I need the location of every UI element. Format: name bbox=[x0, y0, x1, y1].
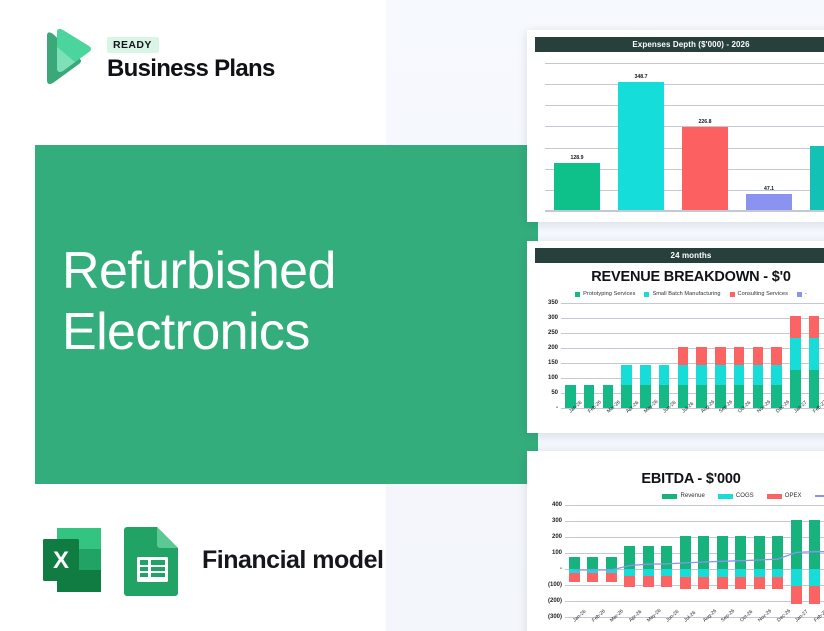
y-axis-tick-label: - bbox=[560, 566, 562, 572]
formats-row: X Financial model bbox=[35, 523, 383, 597]
brand-wordmark: READY Business Plans bbox=[107, 35, 275, 81]
ready-badge: READY bbox=[107, 37, 159, 53]
y-axis-tick-label: (300) bbox=[548, 614, 562, 620]
gridline bbox=[561, 393, 824, 394]
stacked-bar-segment bbox=[809, 370, 819, 408]
chart-ebitda-plot: 400300200100-(100)(200)(300)Jan-26Feb-26… bbox=[565, 505, 824, 617]
gridline bbox=[561, 333, 824, 334]
bar-value-label: 226.8 bbox=[699, 119, 712, 125]
chart-ebitda-title: EBITDA - $'000 bbox=[535, 471, 824, 487]
stacked-bar-segment bbox=[809, 316, 819, 338]
gridline bbox=[561, 348, 824, 349]
page-title: Refurbished Electronics bbox=[62, 241, 336, 363]
bar bbox=[554, 163, 600, 211]
hero-green-panel: Refurbished Electronics bbox=[35, 145, 538, 484]
y-axis-tick-label: 200 bbox=[552, 534, 562, 540]
legend-swatch-icon bbox=[575, 292, 580, 297]
gridline bbox=[561, 303, 824, 304]
svg-text:X: X bbox=[53, 547, 69, 574]
axis-line bbox=[545, 210, 824, 211]
legend-swatch-icon bbox=[815, 495, 824, 497]
stacked-bar-segment bbox=[790, 316, 800, 338]
stacked-bar-segment bbox=[696, 347, 706, 365]
legend-label: Prototyping Services bbox=[583, 291, 635, 297]
stacked-bar-segment bbox=[696, 365, 706, 386]
y-axis-tick-label: - bbox=[556, 405, 558, 411]
legend-item: COGS bbox=[718, 493, 754, 499]
legend-item: Small Batch Manufacturing bbox=[644, 291, 720, 297]
stacked-bar-segment bbox=[753, 347, 763, 365]
stacked-bar-segment bbox=[715, 365, 725, 386]
y-axis-tick-label: (200) bbox=[548, 598, 562, 604]
stacked-bar-segment bbox=[715, 347, 725, 365]
legend-label: OPEX bbox=[785, 493, 802, 499]
legend-swatch-icon bbox=[644, 292, 649, 297]
gridline bbox=[545, 211, 824, 212]
y-axis-tick-label: 50 bbox=[551, 390, 558, 396]
bar bbox=[618, 82, 664, 211]
legend-item: - bbox=[797, 291, 807, 297]
stacked-bar-segment bbox=[771, 365, 781, 386]
microsoft-excel-icon: X bbox=[35, 523, 109, 597]
legend-item: Revenue bbox=[662, 493, 704, 499]
chart-revenue-plot: 35030025020015010050-Jan-26Feb-26Mar-26A… bbox=[561, 303, 824, 408]
legend-label: COGS bbox=[736, 493, 754, 499]
chart-ebitda-legend: RevenueCOGSOPEX0 bbox=[535, 493, 824, 499]
gridline bbox=[545, 84, 824, 85]
legend-item: Consulting Services bbox=[730, 291, 788, 297]
gridline bbox=[561, 378, 824, 379]
y-axis-tick-label: 350 bbox=[548, 300, 558, 306]
legend-label: Small Batch Manufacturing bbox=[652, 291, 720, 297]
legend-label: - bbox=[805, 291, 807, 297]
stacked-bar-segment bbox=[640, 365, 650, 386]
legend-swatch-icon bbox=[718, 494, 733, 499]
play-triangle-logo-icon bbox=[33, 28, 95, 88]
stacked-bar-segment bbox=[659, 365, 669, 386]
chart-revenue-legend: Prototyping ServicesSmall Batch Manufact… bbox=[535, 291, 824, 297]
y-axis-tick-label: 300 bbox=[552, 518, 562, 524]
stacked-bar-segment bbox=[734, 365, 744, 386]
stacked-bar-segment bbox=[790, 338, 800, 370]
y-axis-tick-label: 150 bbox=[548, 360, 558, 366]
bar-value-label: 128.9 bbox=[571, 155, 584, 161]
chart-revenue-title: REVENUE BREAKDOWN - $'0 bbox=[535, 269, 824, 285]
stacked-bar-segment bbox=[790, 370, 800, 408]
brand-logo-block[interactable]: READY Business Plans bbox=[33, 28, 275, 88]
stacked-bar-segment bbox=[734, 347, 744, 365]
y-axis-tick-label: 100 bbox=[552, 550, 562, 556]
chart-expenses-plot: 128.9348.7226.847.1176.5 bbox=[545, 63, 824, 211]
legend-item: 0 bbox=[815, 493, 824, 499]
y-axis-tick-label: 400 bbox=[552, 502, 562, 508]
stacked-bar-segment bbox=[621, 365, 631, 386]
bar-value-label: 47.1 bbox=[764, 186, 774, 192]
gridline bbox=[561, 363, 824, 364]
legend-swatch-icon bbox=[662, 494, 677, 499]
bar bbox=[682, 127, 728, 211]
legend-item: OPEX bbox=[767, 493, 802, 499]
y-axis-tick-label: 250 bbox=[548, 330, 558, 336]
stacked-bar-segment bbox=[678, 365, 688, 386]
chart-card-revenue[interactable]: 24 months REVENUE BREAKDOWN - $'0 Protot… bbox=[527, 241, 824, 433]
y-axis-tick-label: (100) bbox=[548, 582, 562, 588]
stacked-bar-segment bbox=[678, 347, 688, 365]
stacked-bar-segment bbox=[809, 338, 819, 370]
google-sheets-icon bbox=[121, 524, 184, 596]
zero-reference-line-series bbox=[565, 505, 824, 617]
stacked-bar-segment bbox=[771, 347, 781, 365]
legend-swatch-icon bbox=[767, 494, 782, 499]
brand-name: Business Plans bbox=[107, 56, 275, 81]
gridline bbox=[545, 105, 824, 106]
gridline bbox=[561, 318, 824, 319]
y-axis-tick-label: 100 bbox=[548, 375, 558, 381]
legend-label: Consulting Services bbox=[738, 291, 788, 297]
chart-card-ebitda[interactable]: EBITDA - $'000 RevenueCOGSOPEX0 40030020… bbox=[527, 451, 824, 631]
stacked-bar-segment bbox=[753, 365, 763, 386]
legend-swatch-icon bbox=[730, 292, 735, 297]
legend-item: Prototyping Services bbox=[575, 291, 635, 297]
slide-root: READY Business Plans Refurbished Electro… bbox=[0, 0, 824, 631]
legend-swatch-icon bbox=[797, 292, 802, 297]
financial-model-label: Financial model bbox=[202, 546, 383, 575]
bar bbox=[810, 146, 824, 211]
y-axis-tick-label: 200 bbox=[548, 345, 558, 351]
legend-label: Revenue bbox=[680, 493, 704, 499]
chart-revenue-header: 24 months bbox=[535, 248, 824, 263]
bar bbox=[746, 194, 792, 211]
gridline bbox=[545, 63, 824, 64]
y-axis-tick-label: 300 bbox=[548, 315, 558, 321]
chart-expenses-header: Expenses Depth ($'000) - 2026 bbox=[535, 37, 824, 52]
chart-card-expenses[interactable]: Expenses Depth ($'000) - 2026 128.9348.7… bbox=[527, 30, 824, 222]
bar-value-label: 348.7 bbox=[635, 74, 648, 80]
